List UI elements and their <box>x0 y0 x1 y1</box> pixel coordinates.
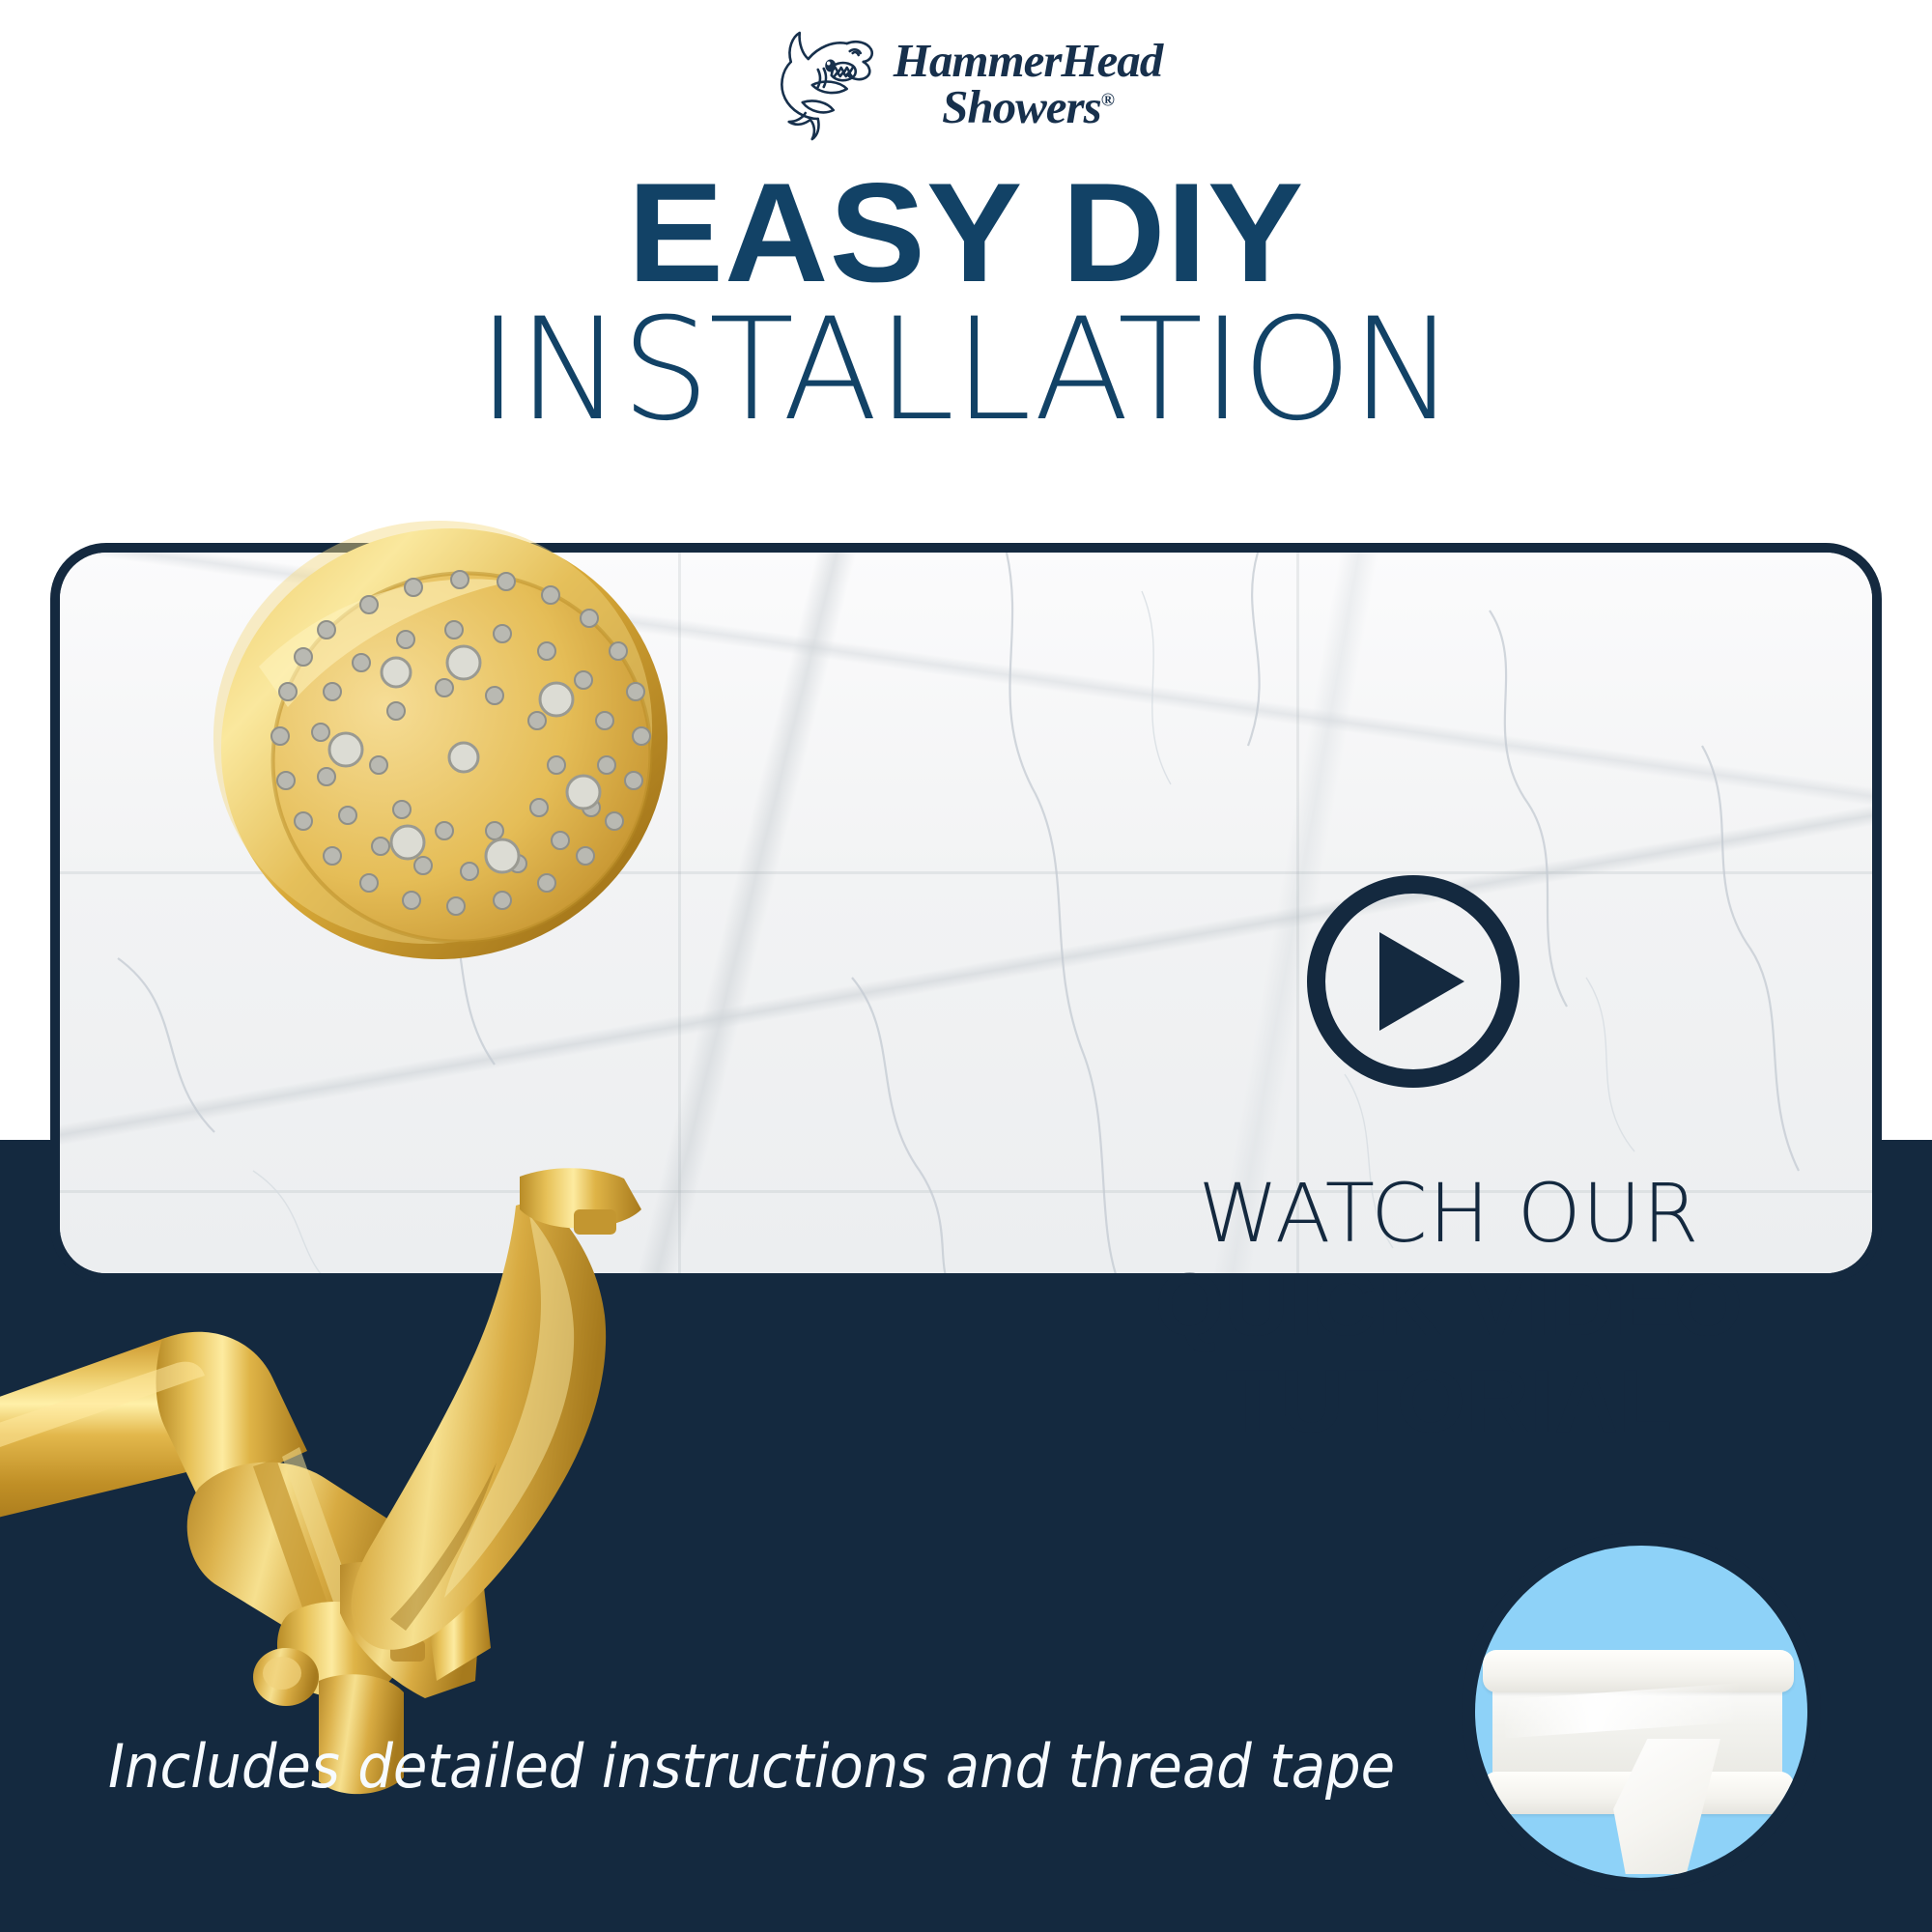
brand-logo-text: HammerHead Showers® <box>894 38 1163 130</box>
video-cta-line1: WATCH OUR <box>1053 1171 1845 1257</box>
headline-line2: INSTALLATION <box>10 298 1922 444</box>
brand-name-line2: Showers® <box>942 84 1114 130</box>
video-cta-line2: QUICK VIDEO <box>1053 1259 1845 1353</box>
page-title: EASY DIY INSTALLATION <box>0 162 1932 444</box>
video-cta-line3: TUTORIAL <box>1053 1355 1845 1450</box>
play-circle-icon[interactable] <box>1307 875 1520 1088</box>
shower-head-face <box>158 464 724 1017</box>
play-triangle-icon <box>1379 932 1464 1031</box>
footer-caption: Includes detailed instructions and threa… <box>108 1731 1395 1802</box>
video-cta-text: WATCH OUR QUICK VIDEO TUTORIAL <box>1053 1171 1845 1449</box>
headline-line1: EASY DIY <box>0 162 1932 303</box>
thread-tape-badge <box>1462 1532 1821 1891</box>
hammerhead-shark-logo-icon <box>770 27 878 141</box>
brand-name-line1: HammerHead <box>894 38 1163 84</box>
shower-handle <box>352 1198 607 1650</box>
registered-mark: ® <box>1101 91 1114 111</box>
brand-logo: HammerHead Showers® <box>770 27 1163 141</box>
poster-canvas: HammerHead Showers® EASY DIY INSTALLATIO… <box>0 0 1932 1932</box>
brand-name-line2-text: Showers <box>942 80 1101 133</box>
shower-head-product-image <box>0 425 1014 1932</box>
